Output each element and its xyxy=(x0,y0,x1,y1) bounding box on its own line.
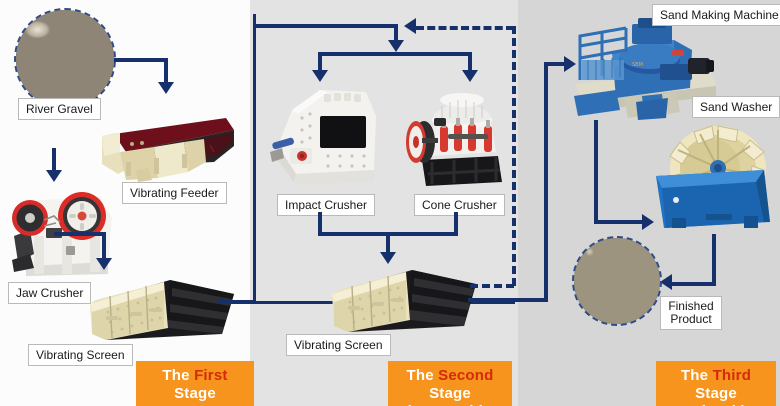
arrow-feeder-to-jaw-v xyxy=(52,148,56,172)
stage-2-prefix: The xyxy=(406,367,438,384)
arrow-sandmaker-to-washer-h xyxy=(594,220,646,224)
label-vibrating-screen-1: Vibrating Screen xyxy=(28,344,133,366)
label-sand-washer: Sand Washer xyxy=(692,96,780,118)
finished-product-line2: Product xyxy=(668,313,714,326)
stage-2-banner-line1: The Second Stage xyxy=(398,367,502,403)
arrow-stage2-top-head xyxy=(388,40,404,52)
stage-3-banner: The Third Stage Sand Making xyxy=(656,361,776,406)
arrow-split-right-v xyxy=(468,52,472,72)
label-impact-crusher: Impact Crusher xyxy=(277,194,375,216)
label-river-gravel: River Gravel xyxy=(18,98,101,120)
arrow-screen1-to-stage2 xyxy=(218,300,256,304)
process-flow-diagram: River Gravel Vibr xyxy=(0,0,780,406)
cone-crusher-image xyxy=(392,78,512,194)
product-texture xyxy=(574,238,660,324)
vibrating-screen-2-image xyxy=(324,258,478,342)
impact-crusher-image xyxy=(268,82,386,194)
recirc-dashed-top-h xyxy=(416,26,514,30)
stage-2-banner: The Second Stage Fine Crushing xyxy=(388,361,512,406)
recirc-dashed-bottom-h xyxy=(470,284,514,288)
vibrating-screen-1-image xyxy=(84,268,236,350)
arrow-washer-to-product-v xyxy=(712,234,716,286)
arrow-gravel-to-feeder-h xyxy=(114,58,168,62)
svg-text:SBM: SBM xyxy=(632,62,643,68)
stage-1-suffix: Stage xyxy=(174,385,216,402)
arrow-screen2-to-stage3-h xyxy=(468,298,548,302)
recirc-dashed-head xyxy=(404,18,416,34)
river-gravel-image xyxy=(14,8,116,110)
gravel-texture xyxy=(16,10,114,108)
label-vibrating-feeder: Vibrating Feeder xyxy=(122,182,227,204)
arrow-stage2-top-h xyxy=(253,24,398,28)
arrow-merge-down-v xyxy=(386,232,390,254)
label-cone-crusher: Cone Crusher xyxy=(414,194,505,216)
finished-product-image xyxy=(572,236,662,326)
arrow-split-bar xyxy=(318,52,472,56)
stage-1-banner: The First Stage Coarse Crushing xyxy=(136,361,254,406)
stage-3-prefix: The xyxy=(681,367,713,384)
arrow-sandmaker-to-washer-v xyxy=(594,120,598,224)
arrow-jaw-to-screen-v xyxy=(102,232,106,260)
vibrating-feeder-image xyxy=(96,100,236,182)
stage-1-prefix: The xyxy=(162,367,194,384)
stage-3-highlight: Third xyxy=(713,367,752,384)
arrow-into-sandmaker-h xyxy=(544,62,566,66)
recirc-dashed-v xyxy=(512,26,516,286)
arrow-gravel-to-feeder-head xyxy=(158,82,174,94)
label-finished-product: Finished Product xyxy=(660,296,722,330)
arrow-washer-to-product-h xyxy=(672,282,716,286)
stage-3-suffix: Stage xyxy=(695,385,737,402)
stage-2-suffix: Stage xyxy=(429,385,471,402)
arrow-screen2-to-stage3-v xyxy=(544,62,548,302)
arrow-jaw-to-screen-h xyxy=(54,232,106,236)
arrow-split-left-v xyxy=(318,52,322,72)
label-jaw-crusher: Jaw Crusher xyxy=(8,282,91,304)
arrow-gravel-to-feeder-v xyxy=(164,58,168,84)
label-vibrating-screen-2: Vibrating Screen xyxy=(286,334,391,356)
label-sand-making-machine: Sand Making Machine xyxy=(652,4,780,26)
arrow-split-left-head xyxy=(312,70,328,82)
stage-3-banner-line1: The Third Stage xyxy=(666,367,766,403)
stage-1-banner-line1: The First Stage xyxy=(146,367,244,403)
sand-washer-image xyxy=(646,118,780,230)
stage-2-highlight: Second xyxy=(438,367,493,384)
stage-1-highlight: First xyxy=(194,367,228,384)
